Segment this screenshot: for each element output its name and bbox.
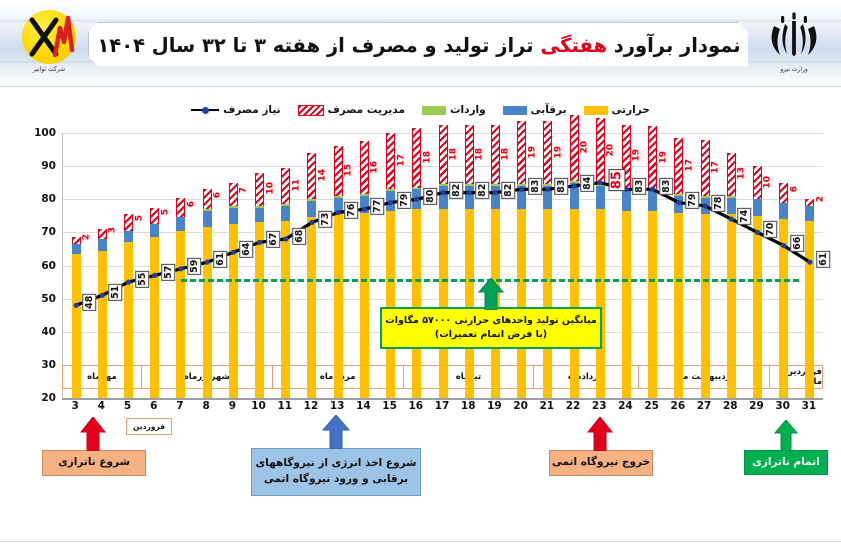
- callout-end-imbalance: اتمام ناترازی: [744, 450, 828, 475]
- x-axis-label-week-20: 20: [513, 400, 528, 412]
- x-axis-label-week-7: 7: [176, 400, 183, 412]
- callout-hydro-nuclear-line2: برقابی و ورود نیروگاه اتمی: [264, 472, 408, 488]
- legend-swatch-hatch: [298, 105, 324, 116]
- y-axis-tick-label: 60: [41, 260, 56, 272]
- legend-item-label: برقآبی: [531, 104, 567, 116]
- y-axis-tick-label: 70: [41, 226, 56, 238]
- x-axis-label-week-29: 29: [749, 400, 764, 412]
- demand-point-label-13: 76: [345, 201, 359, 218]
- y-axis-tick-label: 20: [41, 392, 56, 404]
- legend-item-label: واردات: [450, 104, 486, 116]
- tavanir-logo-caption: شرکت توانیر: [22, 65, 76, 73]
- x-axis-label-week-6: 6: [150, 400, 157, 412]
- x-axis-label-week-28: 28: [723, 400, 738, 412]
- demand-point-label-11: 68: [293, 228, 307, 245]
- y-axis-tick-label: 90: [41, 160, 56, 172]
- legend-item-3[interactable]: برقآبی: [503, 104, 567, 116]
- callout-nuclear-exit-label: خروج نیروگاه اتمی: [552, 455, 650, 471]
- legend-item-2[interactable]: واردات: [422, 104, 486, 116]
- y-axis-tick-label: 50: [41, 293, 56, 305]
- demand-point-label-9: 64: [240, 241, 254, 258]
- page-title-prefix: نمودار برآورد: [607, 34, 741, 57]
- x-axis-label-week-22: 22: [566, 400, 581, 412]
- demand-point-label-15: 79: [397, 191, 411, 208]
- callout-end-imbalance-label: اتمام ناترازی: [752, 455, 820, 471]
- y-axis-tick-label: 100: [34, 127, 56, 139]
- callout-start-imbalance-label: شروع ناترازی: [58, 455, 130, 471]
- y-axis-tick-label: 40: [41, 326, 56, 338]
- demand-point-label-31: 61: [817, 251, 831, 268]
- demand-point-label-26: 79: [686, 191, 700, 208]
- chart-plot-area: 2030405060708090100 فروردین ماهاردیبهشت …: [62, 133, 823, 398]
- x-axis-label-week-18: 18: [461, 400, 476, 412]
- x-axis-label-week-23: 23: [592, 400, 607, 412]
- legend-item-label: حرارتی: [612, 104, 650, 116]
- x-axis-label-week-21: 21: [540, 400, 555, 412]
- legend-item-4[interactable]: حرارتی: [584, 104, 650, 116]
- ministry-of-energy-logo: وزارت نیرو: [755, 6, 833, 82]
- x-axis-label-week-25: 25: [644, 400, 659, 412]
- x-axis-label-week-31: 31: [802, 400, 817, 412]
- x-axis-label-week-5: 5: [124, 400, 131, 412]
- demand-point-label-12: 73: [319, 211, 333, 228]
- x-axis-labels: 3456789101112131415161718192021222324252…: [62, 400, 822, 414]
- demand-point-label-17: 82: [450, 181, 464, 198]
- page-title: نمودار برآورد هفتگی تراز تولید و مصرف از…: [97, 34, 740, 57]
- iran-emblem-icon: [755, 6, 833, 68]
- callout-hydro-nuclear-start: شروع اخذ انرژی از نیروگاههای برقابی و ور…: [251, 448, 421, 496]
- demand-point-label-24: 83: [633, 178, 647, 195]
- x-axis-label-week-16: 16: [408, 400, 423, 412]
- x-axis-label-week-15: 15: [382, 400, 397, 412]
- x-axis-label-week-19: 19: [487, 400, 502, 412]
- tavanir-logo: شرکت توانیر: [10, 6, 88, 82]
- demand-point-label-16: 80: [424, 188, 438, 205]
- demand-point-label-30: 66: [790, 234, 804, 251]
- legend-swatch-solid: [422, 106, 446, 115]
- x-axis-label-week-26: 26: [671, 400, 686, 412]
- legend-swatch-line-marker: [191, 106, 219, 115]
- x-axis-label-week-4: 4: [98, 400, 105, 412]
- ministry-logo-caption: وزارت نیرو: [755, 66, 833, 73]
- demand-point-label-22: 84: [581, 175, 595, 192]
- legend-item-label: مدیریت مصرف: [328, 104, 405, 116]
- demand-point-label-27: 78: [712, 194, 726, 211]
- callout-hydro-nuclear-arrow: [322, 415, 350, 449]
- legend-swatch-solid: [503, 106, 527, 115]
- legend-item-0[interactable]: نیاز مصرف: [191, 104, 280, 116]
- legend-swatch-solid: [584, 106, 608, 115]
- x-axis-label-week-10: 10: [251, 400, 266, 412]
- y-axis-tick-label: 80: [41, 193, 56, 205]
- demand-point-label-7: 59: [188, 257, 202, 274]
- x-axis-label-week-14: 14: [356, 400, 371, 412]
- chart-legend: نیاز مصرفمدیریت مصرفوارداتبرقآبیحرارتی: [0, 99, 841, 121]
- x-axis-label-week-12: 12: [304, 400, 319, 412]
- x-axis-label-week-11: 11: [277, 400, 292, 412]
- title-plate: نمودار برآورد هفتگی تراز تولید و مصرف از…: [88, 22, 750, 68]
- demand-point-label-20: 83: [528, 178, 542, 195]
- x-axis-label-week-3: 3: [71, 400, 78, 412]
- demand-point-label-19: 82: [502, 181, 516, 198]
- demand-point-label-3: 48: [83, 294, 97, 311]
- callout-start-imbalance: شروع ناترازی: [42, 450, 146, 476]
- demand-point-label-18: 82: [476, 181, 490, 198]
- demand-point-label-25: 83: [659, 178, 673, 195]
- demand-point-label-21: 83: [555, 178, 569, 195]
- callout-nuclear-exit: خروج نیروگاه اتمی: [549, 450, 653, 476]
- demand-point-label-23: 85: [609, 169, 626, 191]
- callout-nuclear-exit-arrow: [587, 417, 613, 451]
- page-title-suffix: تراز تولید و مصرف از هفته ۳ تا ۳۲ سال ۱۴…: [97, 34, 540, 57]
- demand-point-label-29: 70: [764, 221, 778, 238]
- x-axis-label-week-9: 9: [229, 400, 236, 412]
- legend-item-1[interactable]: مدیریت مصرف: [298, 104, 405, 116]
- demand-point-labels: 4851555759616467687376777980828282838384…: [63, 133, 823, 398]
- page-title-highlight: هفتگی: [540, 34, 607, 57]
- tavanir-logo-glyph: [10, 6, 88, 68]
- demand-point-label-14: 77: [371, 198, 385, 215]
- avg-thermal-note-line1: میانگین تولید واحدهای حرارتی ۵۷۰۰۰ مگاوا…: [385, 314, 597, 328]
- avg-thermal-note: میانگین تولید واحدهای حرارتی ۵۷۰۰۰ مگاوا…: [380, 307, 602, 349]
- demand-point-label-5: 55: [135, 271, 149, 288]
- footer-rule: [0, 541, 841, 542]
- callout-start-imbalance-arrow: [80, 417, 106, 451]
- demand-point-label-6: 57: [161, 264, 175, 281]
- avg-thermal-arrow: [478, 278, 504, 310]
- avg-thermal-note-line2: (با فرض اتمام تعمیرات): [435, 328, 547, 342]
- demand-point-label-4: 51: [109, 284, 123, 301]
- x-axis-label-week-17: 17: [435, 400, 450, 412]
- demand-point-label-8: 61: [214, 251, 228, 268]
- demand-point-label-28: 74: [738, 208, 752, 225]
- x-axis-label-week-24: 24: [618, 400, 633, 412]
- y-axis-tick-label: 30: [41, 359, 56, 371]
- x-axis-label-week-27: 27: [697, 400, 712, 412]
- page-header: شرکت توانیر نمودار برآورد هفتگی تراز تول…: [0, 0, 841, 87]
- callout-hydro-nuclear-line1: شروع اخذ انرژی از نیروگاههای: [256, 456, 417, 472]
- demand-point-label-10: 67: [266, 231, 280, 248]
- farvardin-tag: فروردین: [126, 418, 172, 435]
- legend-item-label: نیاز مصرف: [223, 104, 280, 116]
- callout-end-imbalance-arrow: [774, 420, 798, 451]
- x-axis-label-week-13: 13: [330, 400, 345, 412]
- x-axis-label-week-30: 30: [775, 400, 790, 412]
- x-axis-label-week-8: 8: [202, 400, 209, 412]
